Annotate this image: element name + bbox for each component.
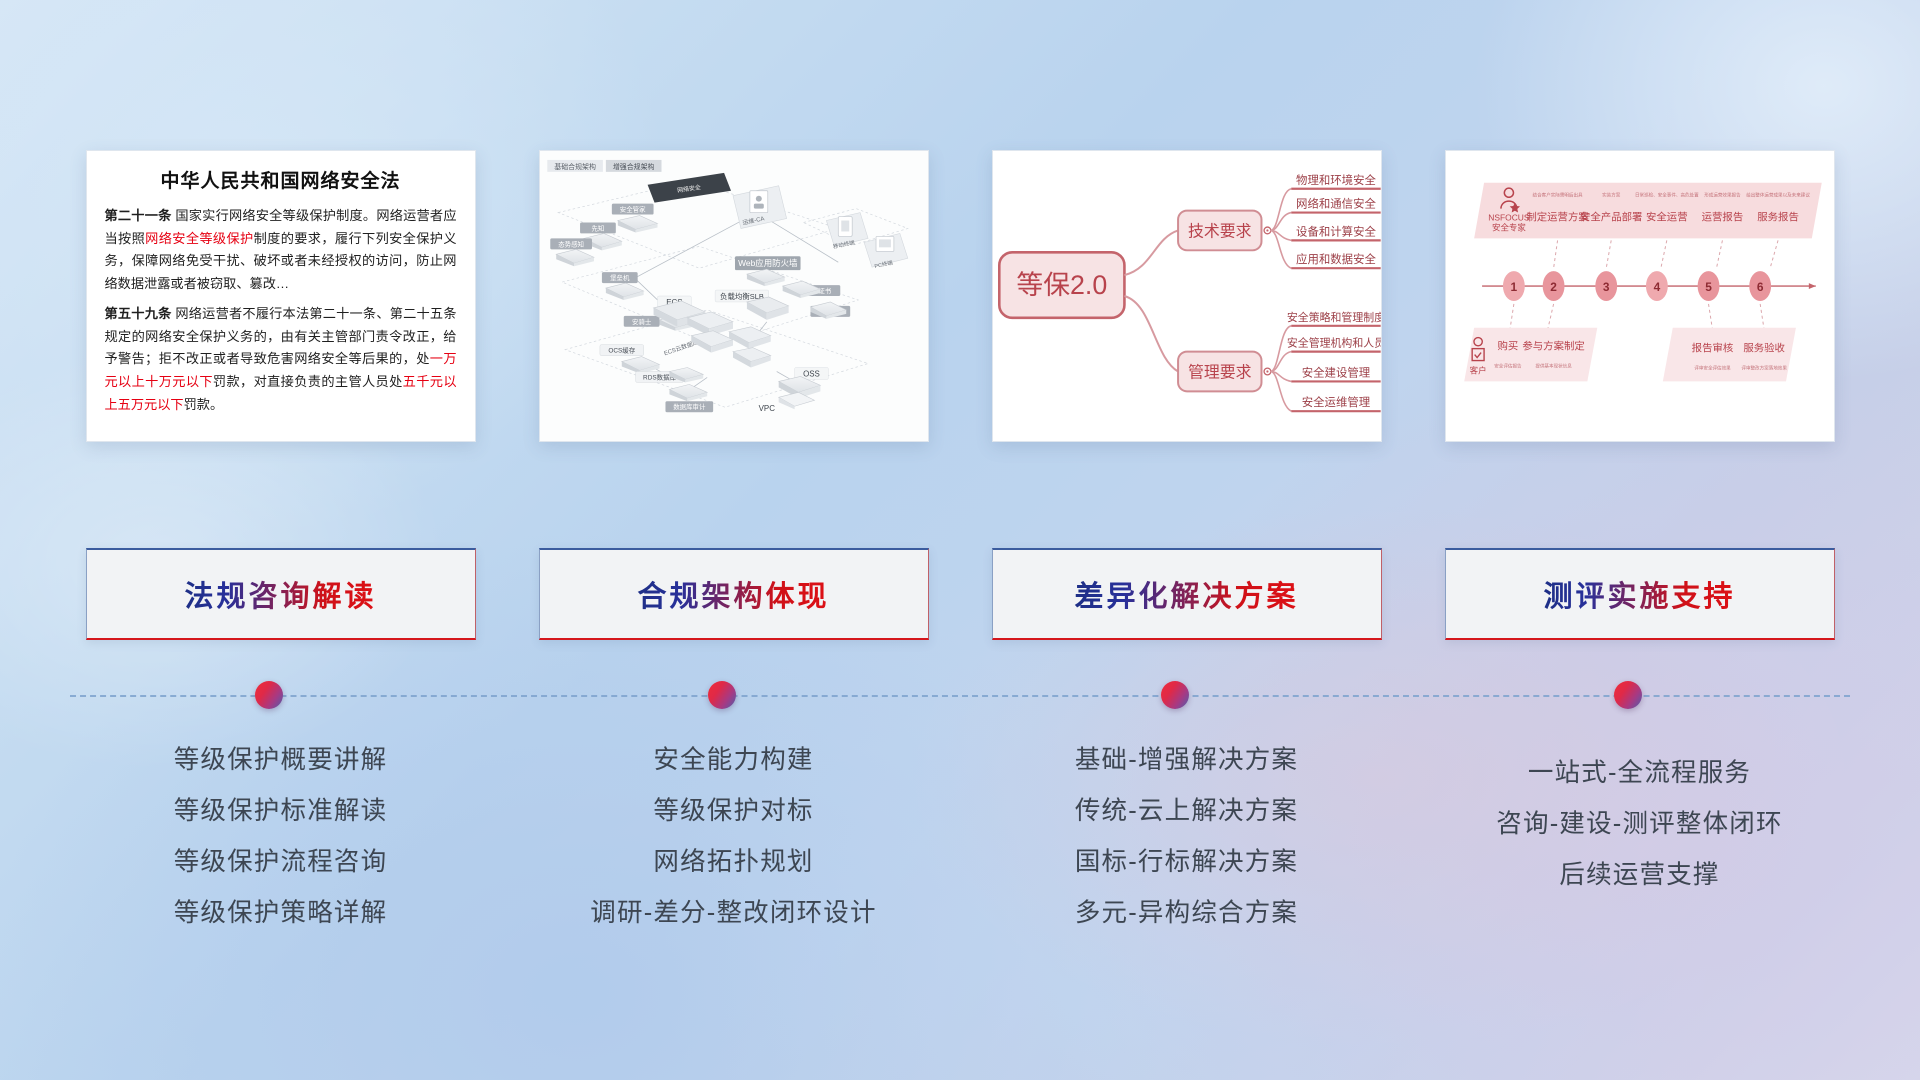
nsfocus-top-1-sub: 实装方案 bbox=[1602, 192, 1621, 199]
nsfocus-expert-name: NSFOCUS bbox=[1488, 213, 1530, 223]
title-box-2[interactable]: 差异化解决方案 bbox=[992, 548, 1382, 640]
timeline-dot-2[interactable] bbox=[1161, 681, 1189, 709]
timeline-dot-0[interactable] bbox=[255, 681, 283, 709]
detail-list-3: 一站式-全流程服务 咨询-建设-测评整体闭环 后续运营支撑 bbox=[1445, 735, 1835, 965]
mindmap-branch-1-label: 管理要求 bbox=[1188, 363, 1252, 381]
timeline-dot-1[interactable] bbox=[708, 681, 736, 709]
nsfocus-customer-label: 客户 bbox=[1469, 365, 1486, 375]
timeline bbox=[70, 695, 1850, 697]
list-item: 等级保护流程咨询 bbox=[174, 837, 388, 888]
title-label-0: 法规咨询解读 bbox=[184, 573, 376, 615]
nsfocus-top-1-main: 安全产品部署 bbox=[1579, 211, 1641, 224]
arch-node-18: OSS bbox=[803, 369, 820, 378]
nsfocus-top-2-main: 安全运营 bbox=[1646, 211, 1688, 224]
list-item: 后续运营支撑 bbox=[1559, 850, 1719, 901]
nsfocus-bottom-2-main: 报告审核 bbox=[1691, 342, 1733, 355]
arch-node-1: 安全管家 bbox=[619, 205, 645, 214]
nsfocus-top-4-main: 服务报告 bbox=[1757, 211, 1799, 224]
card-nsfocus-service-flow: NSFOCUS 安全专家 结合客户实际需明后出具 制定运营方案 实装方案 安全产… bbox=[1445, 150, 1835, 442]
arch-node-12: Web应用防火墙 bbox=[738, 258, 798, 268]
list-item: 基础-增强解决方案 bbox=[1075, 735, 1298, 786]
list-item: 等级保护标准解读 bbox=[174, 786, 388, 837]
detail-list-0: 等级保护概要讲解 等级保护标准解读 等级保护流程咨询 等级保护策略详解 bbox=[86, 735, 476, 965]
list-item: 一站式-全流程服务 bbox=[1528, 748, 1751, 799]
nsfocus-top-3-sub: 形成运营效果报告 bbox=[1704, 192, 1741, 199]
title-label-3: 测评实施支持 bbox=[1543, 573, 1735, 615]
card-djcp-mindmap: 等保2.0 技术要求 物理和环境安全 网络和通信安全 设备和计算安全 应用和数据… bbox=[992, 150, 1382, 442]
nsfocus-bottom-3-main: 服务验收 bbox=[1743, 342, 1785, 355]
list-item: 安全能力构建 bbox=[653, 735, 813, 786]
nsfocus-bottom-0-main: 购买 bbox=[1497, 340, 1518, 353]
nsfocus-bottom-1-main: 参与方案制定 bbox=[1522, 340, 1584, 353]
list-item: 等级保护策略详解 bbox=[174, 888, 388, 939]
card-compliance-architecture: 基础合规架构 增强合规架构 bbox=[539, 150, 929, 442]
mindmap-branch-1-item-1: 安全管理机构和人员 bbox=[1286, 336, 1380, 350]
nsfocus-flow-diagram: NSFOCUS 安全专家 结合客户实际需明后出具 制定运营方案 实装方案 安全产… bbox=[1446, 151, 1834, 441]
nsfocus-step-2: 3 bbox=[1602, 280, 1609, 294]
title-box-0[interactable]: 法规咨询解读 bbox=[86, 548, 476, 640]
law-article-21-highlight: 网络安全等级保护 bbox=[145, 231, 253, 246]
nsfocus-bottom-1-sub: 提供基本现状信息 bbox=[1535, 363, 1572, 370]
mindmap-branch-0-label: 技术要求 bbox=[1188, 222, 1252, 240]
card-cybersecurity-law: 中华人民共和国网络安全法 第二十一条 国家实行网络安全等级保护制度。网络运营者应… bbox=[86, 150, 476, 442]
nsfocus-top-2-sub: 日常巡检、安全事件、高危处置 bbox=[1634, 192, 1698, 199]
list-item: 多元-异构综合方案 bbox=[1075, 888, 1298, 939]
mindmap-branch-0-item-0: 物理和环境安全 bbox=[1296, 173, 1376, 187]
law-article-21: 第二十一条 国家实行网络安全等级保护制度。网络运营者应当按照网络安全等级保护制度… bbox=[105, 205, 457, 296]
nsfocus-bottom-0-sub: 安全评估报告 bbox=[1494, 363, 1522, 370]
mindmap-root-label: 等保2.0 bbox=[1016, 270, 1107, 300]
list-item: 传统-云上解决方案 bbox=[1075, 786, 1298, 837]
list-item: 网络拓扑规划 bbox=[653, 837, 813, 888]
section-titles-row: 法规咨询解读 合规架构体现 差异化解决方案 测评实施支持 bbox=[0, 548, 1920, 640]
mindmap-branch-1-item-3: 安全运维管理 bbox=[1301, 395, 1370, 409]
nsfocus-top-4-sub: 给出整体运营成果以及未来建议 bbox=[1746, 192, 1810, 199]
detail-lists-row: 等级保护概要讲解 等级保护标准解读 等级保护流程咨询 等级保护策略详解 安全能力… bbox=[0, 735, 1920, 965]
arch-node-2: 先知 bbox=[591, 223, 604, 232]
nsfocus-step-1: 2 bbox=[1550, 280, 1557, 294]
law-article-59: 第五十九条 网络运营者不履行本法第二十一条、第二十五条规定的网络安全保护义务的，… bbox=[105, 303, 457, 417]
law-article-59-part2: 罚款，对直接负责的主管人员处 bbox=[213, 374, 403, 389]
arch-node-19: VPC bbox=[758, 404, 775, 413]
detail-list-2: 基础-增强解决方案 传统-云上解决方案 国标-行标解决方案 多元-异构综合方案 bbox=[992, 735, 1382, 965]
nsfocus-bottom-3-sub: 评审整改方案落地效果 bbox=[1741, 364, 1787, 371]
nsfocus-step-0: 1 bbox=[1510, 280, 1517, 294]
arch-tab-enhanced: 增强合规架构 bbox=[612, 162, 654, 171]
nsfocus-top-0-sub: 结合客户实际需明后出具 bbox=[1532, 192, 1582, 199]
law-title: 中华人民共和国网络安全法 bbox=[105, 166, 457, 193]
mindmap-branch-0-item-2: 设备和计算安全 bbox=[1296, 224, 1376, 238]
title-label-1: 合规架构体现 bbox=[637, 573, 829, 615]
nsfocus-step-5: 6 bbox=[1756, 280, 1763, 294]
detail-list-1: 安全能力构建 等级保护对标 网络拓扑规划 调研-差分-整改闭环设计 bbox=[539, 735, 929, 965]
list-item: 调研-差分-整改闭环设计 bbox=[590, 888, 876, 939]
timeline-dot-3[interactable] bbox=[1614, 681, 1642, 709]
nsfocus-bottom-2-sub: 评审安全评估效果 bbox=[1694, 364, 1731, 371]
law-article-59-part3: 罚款。 bbox=[184, 397, 224, 412]
law-article-59-label: 第五十九条 bbox=[105, 306, 172, 321]
law-article-21-label: 第二十一条 bbox=[105, 208, 172, 223]
mindmap-branch-1-item-0: 安全策略和管理制度 bbox=[1286, 310, 1380, 324]
title-box-3[interactable]: 测评实施支持 bbox=[1445, 548, 1835, 640]
mindmap-branch-0-item-3: 应用和数据安全 bbox=[1296, 252, 1376, 266]
list-item: 等级保护对标 bbox=[653, 786, 813, 837]
illustration-cards-row: 中华人民共和国网络安全法 第二十一条 国家实行网络安全等级保护制度。网络运营者应… bbox=[0, 150, 1920, 442]
arch-tab-basic: 基础合规架构 bbox=[554, 162, 596, 171]
timeline-dashed-line bbox=[70, 695, 1850, 697]
arch-node-8: 数据库审计 bbox=[673, 402, 706, 411]
list-item: 等级保护概要讲解 bbox=[174, 735, 388, 786]
title-box-1[interactable]: 合规架构体现 bbox=[539, 548, 929, 640]
mindmap-diagram: 等保2.0 技术要求 物理和环境安全 网络和通信安全 设备和计算安全 应用和数据… bbox=[993, 151, 1381, 441]
nsfocus-expert-role: 安全专家 bbox=[1492, 222, 1526, 232]
arch-node-3: 态势感知 bbox=[558, 239, 584, 248]
architecture-diagram: 基础合规架构 增强合规架构 bbox=[540, 151, 928, 441]
mindmap-branch-1-item-2: 安全建设管理 bbox=[1301, 365, 1370, 379]
nsfocus-top-3-main: 运营报告 bbox=[1701, 211, 1743, 224]
nsfocus-step-4: 5 bbox=[1705, 280, 1712, 294]
arch-node-6: OCS缓存 bbox=[608, 346, 635, 355]
list-item: 国标-行标解决方案 bbox=[1075, 837, 1298, 888]
title-label-2: 差异化解决方案 bbox=[1074, 573, 1298, 615]
list-item: 咨询-建设-测评整体闭环 bbox=[1496, 799, 1782, 850]
nsfocus-step-3: 4 bbox=[1653, 280, 1660, 294]
arch-node-5: 安骑士 bbox=[631, 317, 651, 326]
arch-node-4: 堡垒机 bbox=[610, 273, 630, 282]
mindmap-branch-0-item-1: 网络和通信安全 bbox=[1296, 197, 1376, 211]
